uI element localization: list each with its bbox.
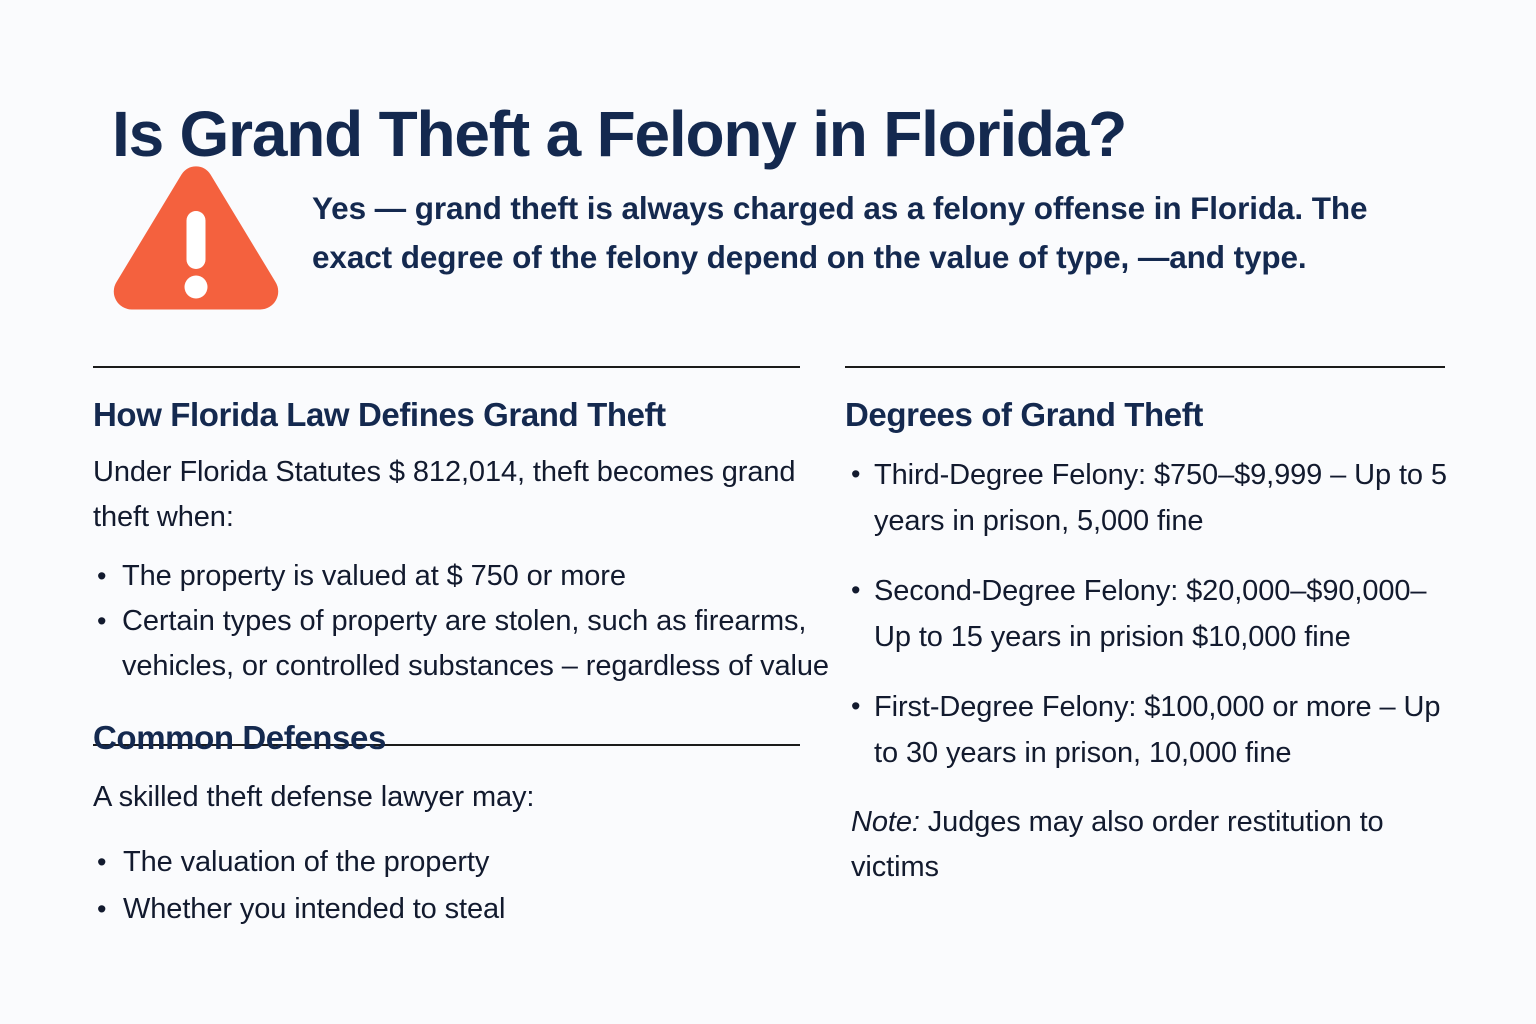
common-defenses-list: The valuation of the property Whether yo…: [93, 840, 838, 932]
degrees-list: Third-Degree Felony: $750–$9,999 – Up to…: [845, 452, 1465, 776]
left-column: How Florida Law Defines Grand Theft Unde…: [93, 394, 838, 934]
degrees-note: Note: Judges may also order restitution …: [851, 800, 1465, 890]
left-column-intro: Under Florida Statutes $ 812,014, theft …: [93, 450, 838, 540]
warning-triangle-icon: [108, 164, 284, 312]
common-defenses-heading: Common Defenses: [93, 717, 838, 759]
list-item: Second-Degree Felony: $20,000–$90,000– U…: [845, 568, 1465, 660]
divider-left-top: [93, 366, 800, 368]
left-column-heading: How Florida Law Defines Grand Theft: [93, 394, 838, 436]
grand-theft-definition-list: The property is valued at $ 750 or more …: [93, 554, 838, 689]
list-item: The property is valued at $ 750 or more: [93, 554, 838, 599]
infographic-root: Is Grand Theft a Felony in Florida? Yes …: [0, 0, 1536, 1024]
intro-block: Yes — grand theft is always charged as a…: [108, 160, 1428, 312]
list-item: Certain types of property are stolen, su…: [93, 599, 838, 689]
common-defenses-intro: A skilled theft defense lawyer may:: [93, 775, 838, 820]
right-column: Degrees of Grand Theft Third-Degree Felo…: [845, 394, 1465, 890]
note-label: Note:: [851, 806, 920, 838]
list-item: Third-Degree Felony: $750–$9,999 – Up to…: [845, 452, 1465, 544]
intro-text: Yes — grand theft is always charged as a…: [312, 184, 1412, 282]
list-item: First-Degree Felony: $100,000 or more – …: [845, 684, 1465, 776]
note-text: Judges may also order restitution to vic…: [851, 806, 1384, 883]
right-column-heading: Degrees of Grand Theft: [845, 394, 1465, 436]
common-defenses-block: Common Defenses A skilled theft defense …: [93, 717, 838, 932]
list-item: The valuation of the property: [93, 840, 838, 885]
list-item: Whether you intended to steal: [93, 887, 838, 932]
divider-right-top: [845, 366, 1445, 368]
